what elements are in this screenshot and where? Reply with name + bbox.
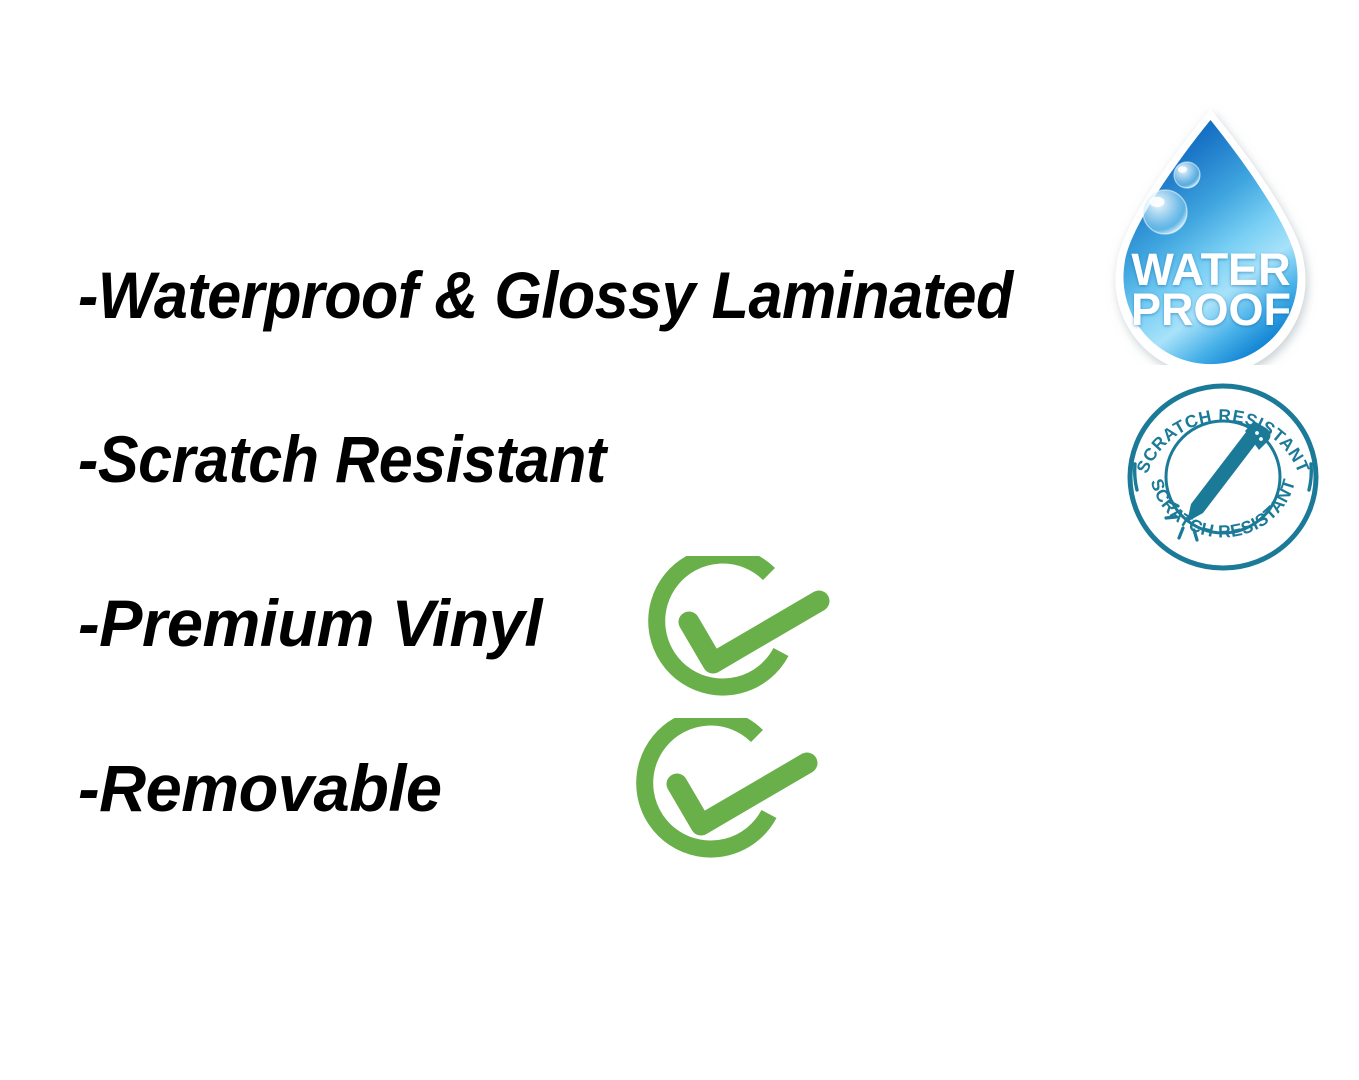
waterproof-drop-badge: WATER PROOF	[1103, 103, 1318, 365]
waterproof-line2: PROOF	[1131, 284, 1291, 335]
check-mark-icon	[677, 763, 807, 825]
feature-item-waterproof-glossy-laminated: -Waterproof & Glossy Laminated	[78, 262, 1013, 328]
feature-callout-graphic: -Waterproof & Glossy Laminated -Scratch …	[0, 0, 1359, 1080]
check-mark-icon	[689, 601, 819, 663]
feature-item-premium-vinyl: -Premium Vinyl	[78, 590, 542, 656]
knife-icon	[1187, 421, 1270, 522]
feature-item-scratch-resistant: -Scratch Resistant	[78, 426, 606, 492]
feature-item-removable: -Removable	[78, 755, 442, 821]
green-check-circle-2	[633, 718, 833, 880]
green-check-circle-1	[645, 556, 845, 718]
scratch-resistant-stamp-badge: SCRATCH RESISTANT SCRATCH RESISTANT	[1123, 378, 1323, 574]
